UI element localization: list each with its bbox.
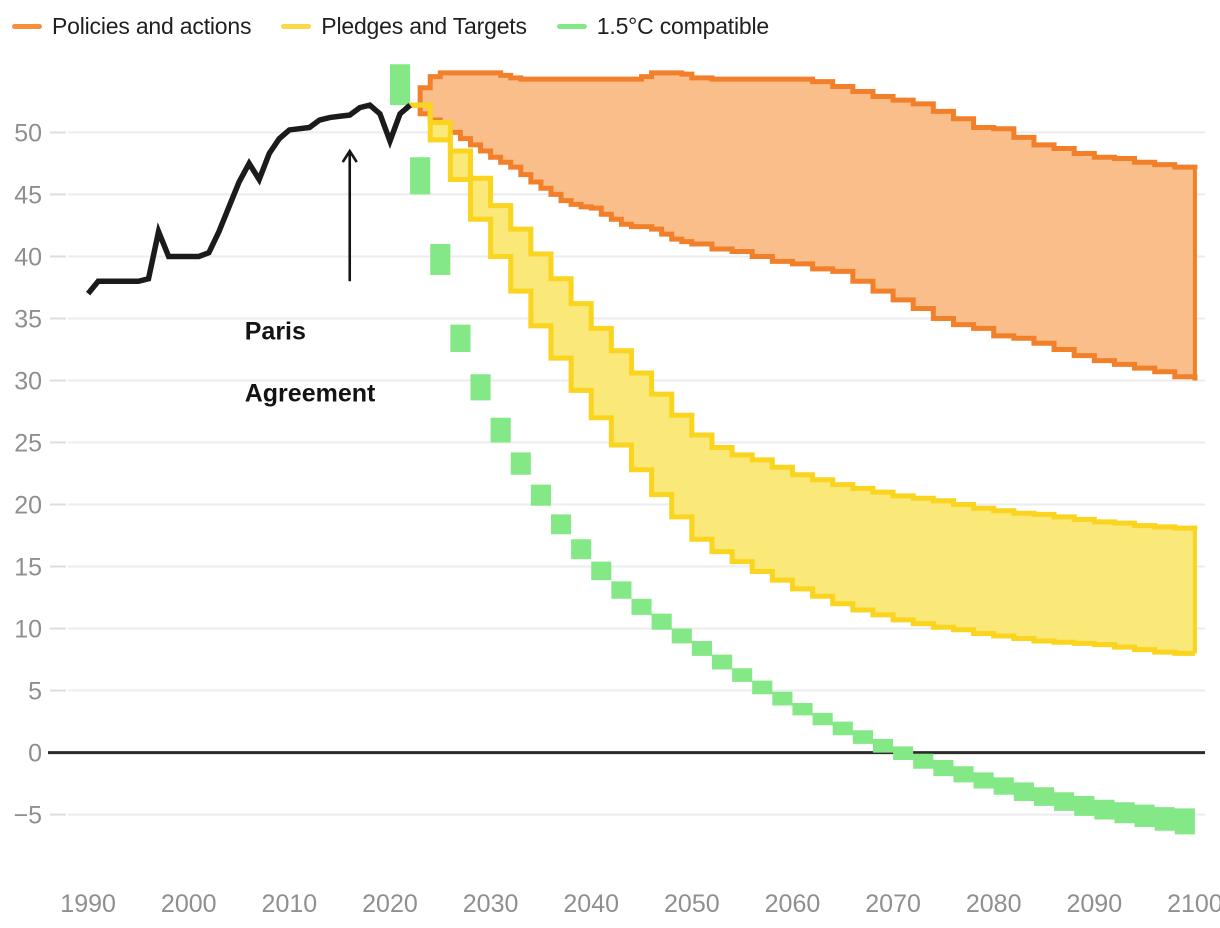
legend-line-icon-15c xyxy=(557,24,587,29)
paris-agreement-annotation: ParisAgreement xyxy=(245,151,376,408)
y-axis-label--5: −5 xyxy=(13,802,42,830)
annotation-line-1: Paris xyxy=(245,318,306,346)
x-axis-label-1990: 1990 xyxy=(60,890,116,918)
x-axis-label-2070: 2070 xyxy=(865,890,921,918)
x-axis-label-2000: 2000 xyxy=(161,890,217,918)
x-axis-label-2080: 2080 xyxy=(966,890,1022,918)
chart-legend: Policies and actions Pledges and Targets… xyxy=(0,0,1220,52)
chart-svg: ParisAgreement 50454035302520151050−5 19… xyxy=(0,52,1220,928)
y-axis-labels-group: 50454035302520151050−5 xyxy=(13,119,42,829)
legend-line-icon-pledges xyxy=(281,24,311,29)
x-axis-labels-group: 1990200020102020203020402050206020702080… xyxy=(60,890,1220,918)
chart-plot-area: ParisAgreement 50454035302520151050−5 19… xyxy=(0,52,1220,928)
y-axis-label-50: 50 xyxy=(14,119,42,147)
x-axis-label-2100: 2100 xyxy=(1167,890,1220,918)
y-axis-label-45: 45 xyxy=(14,181,42,209)
y-axis-label-20: 20 xyxy=(14,492,42,520)
x-axis-label-2010: 2010 xyxy=(262,890,318,918)
x-axis-label-2040: 2040 xyxy=(563,890,619,918)
annotation-line-2: Agreement xyxy=(245,380,376,408)
y-axis-label-5: 5 xyxy=(28,678,42,706)
y-axis-label-40: 40 xyxy=(14,243,42,271)
legend-label-policies: Policies and actions xyxy=(52,13,251,40)
legend-item-pledges-and-targets[interactable]: Pledges and Targets xyxy=(281,13,526,40)
legend-label-pledges: Pledges and Targets xyxy=(321,13,526,40)
x-axis-label-2020: 2020 xyxy=(362,890,418,918)
legend-item-15c-compatible[interactable]: 1.5°C compatible xyxy=(557,13,769,40)
legend-line-icon-policies xyxy=(12,24,42,29)
y-axis-label-25: 25 xyxy=(14,429,42,457)
x-axis-label-2030: 2030 xyxy=(463,890,519,918)
y-axis-label-35: 35 xyxy=(14,305,42,333)
projection-bands-group xyxy=(390,64,1195,838)
legend-label-15c: 1.5°C compatible xyxy=(597,13,769,40)
x-axis-label-2060: 2060 xyxy=(765,890,821,918)
tickmarks-group xyxy=(48,132,68,814)
y-axis-label-10: 10 xyxy=(14,616,42,644)
y-axis-label-30: 30 xyxy=(14,367,42,395)
x-axis-label-2090: 2090 xyxy=(1067,890,1123,918)
legend-item-policies-and-actions[interactable]: Policies and actions xyxy=(12,13,251,40)
y-axis-label-0: 0 xyxy=(28,740,42,768)
y-axis-label-15: 15 xyxy=(14,554,42,582)
emissions-chart-page: Policies and actions Pledges and Targets… xyxy=(0,0,1220,928)
x-axis-label-2050: 2050 xyxy=(664,890,720,918)
